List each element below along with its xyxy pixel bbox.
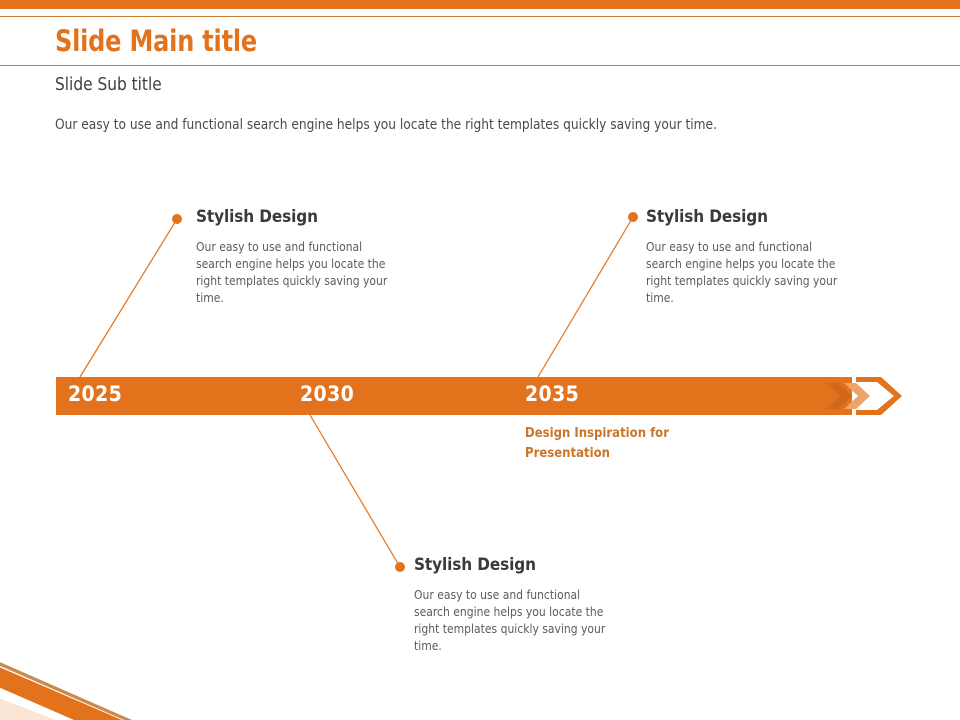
callout-block-2[interactable]: Stylish Design Our easy to use and funct… xyxy=(646,207,842,307)
callout-block-3[interactable]: Stylish Design Our easy to use and funct… xyxy=(414,555,614,655)
connector-line-2 xyxy=(538,217,633,377)
top-accent-bar xyxy=(0,0,960,9)
callout-title-2: Stylish Design xyxy=(646,207,842,227)
timeline-year-2025[interactable]: 2025 xyxy=(68,382,122,406)
timeline-arrow-head xyxy=(820,377,902,415)
intro-paragraph: Our easy to use and functional search en… xyxy=(55,117,717,133)
connector-line-3 xyxy=(310,415,400,567)
connector-dot-3 xyxy=(395,562,405,572)
callout-body-3: Our easy to use and functional search en… xyxy=(414,587,614,655)
header-rule-top xyxy=(0,16,960,17)
page-subtitle: Slide Sub title xyxy=(55,74,162,95)
corner-decoration xyxy=(0,590,240,720)
callout-body-1: Our easy to use and functional search en… xyxy=(196,239,392,307)
callout-title-3: Stylish Design xyxy=(414,555,614,575)
callout-body-2: Our easy to use and functional search en… xyxy=(646,239,842,307)
page-title: Slide Main title xyxy=(55,24,257,58)
timeline-year-2035[interactable]: 2035 xyxy=(525,382,579,406)
timeline-year-2030[interactable]: 2030 xyxy=(300,382,354,406)
connector-line-1 xyxy=(80,219,177,377)
timeline-note: Design Inspiration for Presentation xyxy=(525,424,695,464)
slide-canvas: Slide Main title Slide Sub title Our eas… xyxy=(0,0,960,720)
header-rule-bottom xyxy=(0,65,960,66)
connector-dot-1 xyxy=(172,214,182,224)
callout-title-1: Stylish Design xyxy=(196,207,392,227)
connector-dot-2 xyxy=(628,212,638,222)
callout-block-1[interactable]: Stylish Design Our easy to use and funct… xyxy=(196,207,392,307)
timeline-bar xyxy=(56,377,825,415)
